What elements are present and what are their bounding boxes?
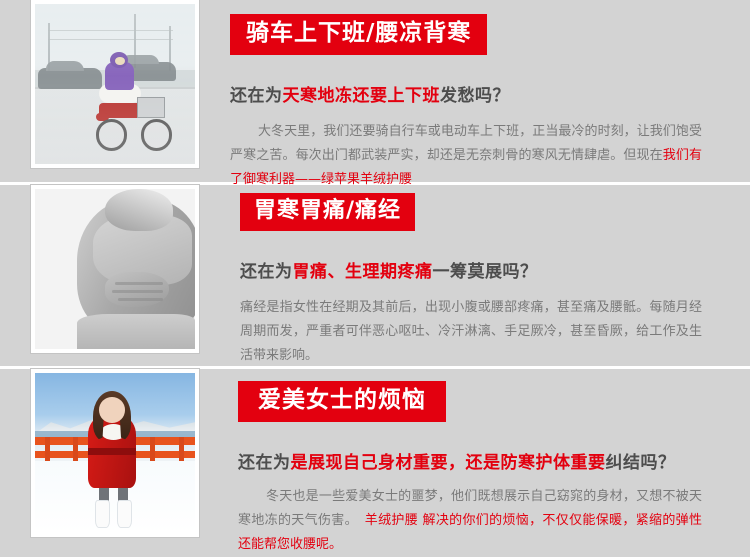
photo-frame [31,185,199,353]
stomach-pain-photo [35,189,195,349]
photo-column [0,185,230,366]
section-body: 冬天也是一些爱美女士的噩梦，他们既想展示自己窈窕的身材，又想不被天寒地冻的天气伤… [238,485,702,557]
section-commute: 骑车上下班/腰凉背寒 还在为天寒地冻还要上下班发愁吗？ 大冬天里，我们还要骑自行… [0,0,750,182]
body-gray-text: 大冬天里，我们还要骑自行车或电动车上下班，正当最冷的时刻，让我们饱受严寒之苦。每… [230,124,702,163]
section-stomach: 胃寒胃痛/痛经 还在为胃痛、生理期疼痛一筹莫展吗？ 痛经是指女性在经期及其前后，… [0,185,750,366]
commute-photo [35,4,195,164]
photo-column [0,369,230,551]
photo-column [0,0,230,182]
text-column: 骑车上下班/腰凉背寒 还在为天寒地冻还要上下班发愁吗？ 大冬天里，我们还要骑自行… [230,0,750,182]
photo-frame [31,0,199,168]
subtitle-post: 发愁吗？ [440,86,510,106]
subtitle-highlight: 胃痛、生理期疼痛 [293,262,433,282]
section-subtitle: 还在为胃痛、生理期疼痛一筹莫展吗？ [240,257,702,282]
text-column: 爱美女士的烦恼 还在为是展现自己身材重要，还是防寒护体重要纠结吗？ 冬天也是一些… [230,369,750,551]
section-body: 痛经是指女性在经期及其前后，出现小腹或腰部疼痛，甚至痛及腰骶。每随月经周期而发，… [240,296,702,368]
photo-frame [31,369,199,537]
section-beauty: 爱美女士的烦恼 还在为是展现自己身材重要，还是防寒护体重要纠结吗？ 冬天也是一些… [0,369,750,551]
subtitle-pre: 还在为 [240,262,293,282]
subtitle-post: 一筹莫展吗？ [433,262,538,282]
section-subtitle: 还在为天寒地冻还要上下班发愁吗？ [230,81,702,106]
subtitle-post: 纠结吗？ [606,453,676,473]
product-description-page: 骑车上下班/腰凉背寒 还在为天寒地冻还要上下班发愁吗？ 大冬天里，我们还要骑自行… [0,0,750,551]
snow-girl-photo [35,373,195,533]
section-body: 大冬天里，我们还要骑自行车或电动车上下班，正当最冷的时刻，让我们饱受严寒之苦。每… [230,120,702,192]
body-gray-text: 痛经是指女性在经期及其前后，出现小腹或腰部疼痛，甚至痛及腰骶。每随月经周期而发，… [240,300,702,363]
section-banner: 胃寒胃痛/痛经 [240,193,415,231]
subtitle-pre: 还在为 [238,453,291,473]
subtitle-highlight: 天寒地冻还要上下班 [283,86,441,106]
section-banner: 骑车上下班/腰凉背寒 [230,14,487,55]
subtitle-pre: 还在为 [230,86,283,106]
section-subtitle: 还在为是展现自己身材重要，还是防寒护体重要纠结吗？ [238,448,702,473]
text-column: 胃寒胃痛/痛经 还在为胃痛、生理期疼痛一筹莫展吗？ 痛经是指女性在经期及其前后，… [230,185,750,366]
subtitle-highlight: 是展现自己身材重要，还是防寒护体重要 [291,453,606,473]
section-banner: 爱美女士的烦恼 [238,381,446,422]
